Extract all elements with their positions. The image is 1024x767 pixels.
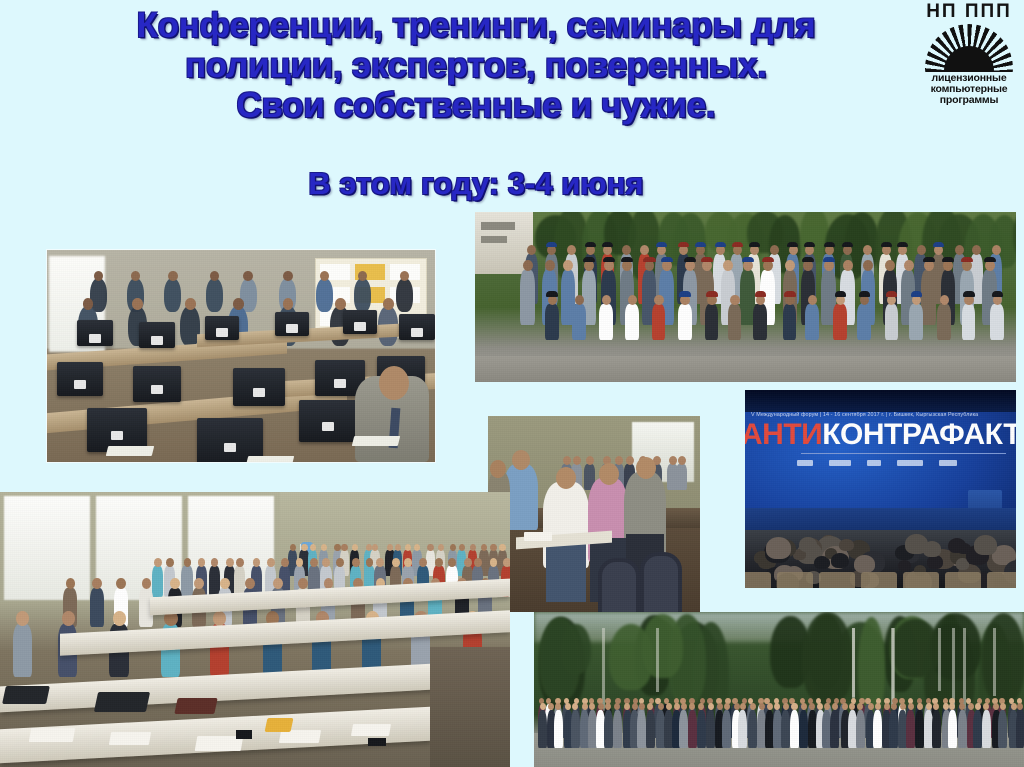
logo-tagline: лицензионные компьютерные программы <box>931 73 1008 106</box>
forum-title-anti: АНТИ <box>745 418 822 451</box>
outdoor-group-photo-bottom <box>534 612 1024 767</box>
workshop-photo <box>488 416 700 612</box>
forum-banner-title: АНТИКОНТРАФАКТ 2017 <box>745 419 1012 451</box>
computer-classroom-photo <box>47 250 435 462</box>
outdoor-group-photo-top <box>475 212 1016 382</box>
presentation-slide: Конференции, тренинги, семинары для поли… <box>0 0 1024 767</box>
forum-title-kontrafakt: КОНТРАФАКТ <box>822 418 1016 451</box>
subheadline: В этом году: 3-4 июня <box>46 166 906 202</box>
page-title: Конференции, тренинги, семинары для поли… <box>46 6 906 126</box>
logo-wordmark: НП ППП <box>926 2 1012 22</box>
sunburst-fan-icon <box>925 24 1013 72</box>
seminar-audience-photo <box>0 492 510 767</box>
antikontrafakt-forum-photo: V Международный форум | 14 - 16 сентября… <box>745 390 1016 588</box>
logo-tagline-line3: программы <box>931 95 1008 106</box>
organization-logo: НП ППП лицензионные компьютерные програм… <box>916 2 1022 118</box>
